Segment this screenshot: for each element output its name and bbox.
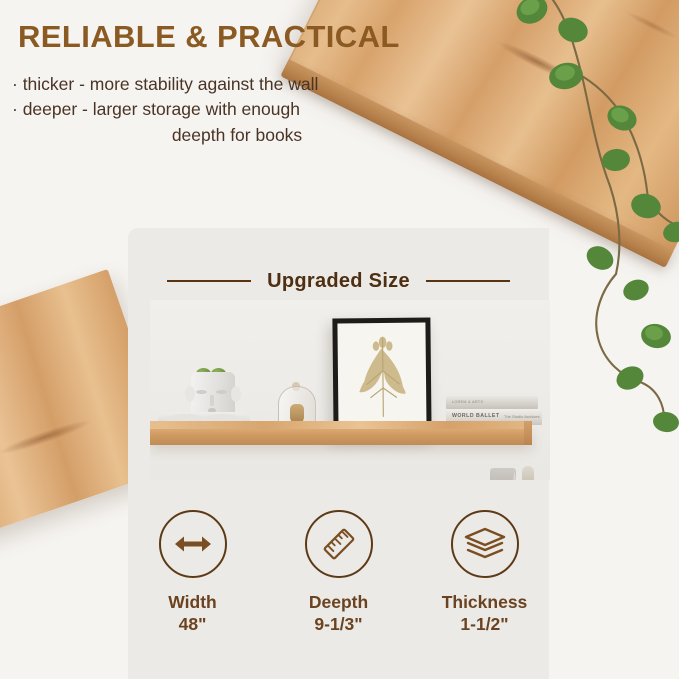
spec-width-label: Width [138, 592, 248, 614]
planter-eye-left [196, 390, 207, 394]
shelf-board-top-surface [150, 421, 532, 429]
feature-bullet-list: · thicker - more stability against the w… [12, 72, 412, 148]
spec-thickness-value: 1-1/2" [430, 614, 540, 636]
decor-object-1 [490, 468, 516, 480]
floating-shelf-board [150, 428, 532, 445]
spec-deepth: Deepth 9-1/3" [284, 510, 394, 636]
decor-object-3 [522, 466, 534, 480]
leaf-artwork [343, 329, 420, 425]
spec-width: Width 48" [138, 510, 248, 636]
book-bottom-spine-subtext: The Studio Archives [504, 414, 540, 419]
stacked-layers-glyph [464, 527, 506, 561]
page-title: RELIABLE & PRACTICAL [18, 20, 448, 54]
bullet-item-2: · deeper - larger storage with enough [12, 97, 412, 122]
product-infographic: RELIABLE & PRACTICAL · thicker - more st… [0, 0, 679, 679]
planter-ear-right [231, 386, 241, 402]
spec-deepth-label: Deepth [284, 592, 394, 614]
panel-title: Upgraded Size [267, 270, 410, 293]
bullet-item-1: · thicker - more stability against the w… [12, 72, 412, 97]
art-mat [337, 323, 426, 432]
width-arrow-icon [159, 510, 227, 578]
double-arrow-glyph [172, 532, 214, 556]
book-bottom-spine-text: WORLD BALLET [452, 413, 500, 419]
bullet-item-3: deepth for books [12, 123, 412, 148]
panel-title-row: Upgraded Size [128, 268, 549, 294]
shelf-lifestyle-scene: LOREM & ARTS WORLD BALLET The Studio Arc… [150, 300, 550, 480]
layers-icon [451, 510, 519, 578]
ruler-glyph [319, 524, 359, 564]
title-rule-left [167, 280, 251, 282]
planter-eye-right [216, 390, 227, 394]
framed-botanical-art [332, 317, 431, 436]
book-top: LOREM & ARTS [446, 396, 538, 409]
spec-deepth-value: 9-1/3" [284, 614, 394, 636]
title-rule-right [426, 280, 510, 282]
planter-nose [210, 395, 214, 406]
spec-thickness: Thickness 1-1/2" [430, 510, 540, 636]
upgraded-size-panel: Upgraded Size [128, 228, 549, 679]
spec-width-value: 48" [138, 614, 248, 636]
planter-ear-left [185, 386, 195, 402]
ruler-icon [305, 510, 373, 578]
book-top-spine-text: LOREM & ARTS [452, 400, 483, 404]
spec-thickness-label: Thickness [430, 592, 540, 614]
spec-feature-row: Width 48" [128, 510, 549, 636]
